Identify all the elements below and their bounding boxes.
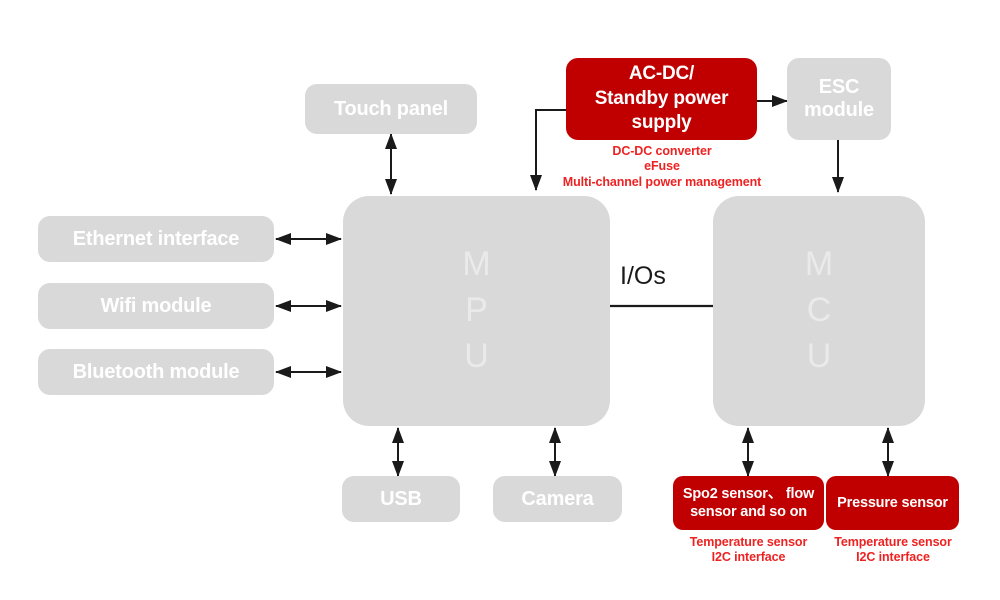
mcu-letter-3: U [807, 334, 832, 380]
usb-label: USB [380, 488, 422, 511]
spo2-flow-sensor-caption-line-1: Temperature sensor [665, 535, 832, 550]
spo2-flow-sensor-caption-line-2: I2C interface [665, 550, 832, 565]
mpu-letter-2: P [465, 288, 488, 334]
ac-dc-standby-power-supply-block[interactable]: AC-DC/ Standby power supply [566, 58, 757, 140]
touch-panel-block[interactable]: Touch panel [305, 84, 477, 134]
mcu-letter-2: C [807, 288, 832, 334]
wifi-module-label: Wifi module [101, 295, 212, 318]
power-supply-line-3: supply [631, 111, 691, 136]
mcu-letter-1: M [805, 242, 833, 288]
mcu-block[interactable]: M C U [713, 196, 925, 426]
pressure-sensor-caption: Temperature sensor I2C interface [808, 535, 978, 566]
power-supply-line-2: Standby power [595, 87, 729, 112]
power-supply-caption-line-2: eFuse [545, 159, 779, 174]
camera-block[interactable]: Camera [493, 476, 622, 522]
power-supply-caption-line-3: Multi-channel power management [545, 175, 779, 190]
bluetooth-module-block[interactable]: Bluetooth module [38, 349, 274, 395]
power-supply-caption-line-1: DC-DC converter [545, 144, 779, 159]
spo2-flow-sensor-line-1: Spo2 sensor、 flow [683, 485, 814, 503]
spo2-flow-sensor-line-2: sensor and so on [690, 503, 807, 521]
touch-panel-label: Touch panel [334, 98, 448, 121]
camera-label: Camera [521, 488, 593, 511]
io-bus-label: I/Os [620, 262, 666, 291]
wifi-module-block[interactable]: Wifi module [38, 283, 274, 329]
pressure-sensor-caption-line-2: I2C interface [808, 550, 978, 565]
power-supply-caption: DC-DC converter eFuse Multi-channel powe… [545, 144, 779, 190]
system-block-diagram: Touch panel AC-DC/ Standby power supply … [0, 0, 1000, 600]
spo2-flow-sensor-block[interactable]: Spo2 sensor、 flow sensor and so on [673, 476, 824, 530]
esc-module-block[interactable]: ESC module [787, 58, 891, 140]
power-supply-line-1: AC-DC/ [629, 62, 694, 87]
mpu-letter-3: U [464, 334, 489, 380]
bluetooth-module-label: Bluetooth module [73, 361, 240, 384]
pressure-sensor-line-1: Pressure sensor [837, 494, 948, 512]
pressure-sensor-block[interactable]: Pressure sensor [826, 476, 959, 530]
esc-module-label-line-1: ESC [819, 76, 860, 99]
ethernet-interface-label: Ethernet interface [73, 228, 239, 251]
spo2-flow-sensor-caption: Temperature sensor I2C interface [665, 535, 832, 566]
pressure-sensor-caption-line-1: Temperature sensor [808, 535, 978, 550]
esc-module-label-line-2: module [804, 99, 874, 122]
mpu-letter-1: M [462, 242, 490, 288]
usb-block[interactable]: USB [342, 476, 460, 522]
ethernet-interface-block[interactable]: Ethernet interface [38, 216, 274, 262]
mpu-block[interactable]: M P U [343, 196, 610, 426]
